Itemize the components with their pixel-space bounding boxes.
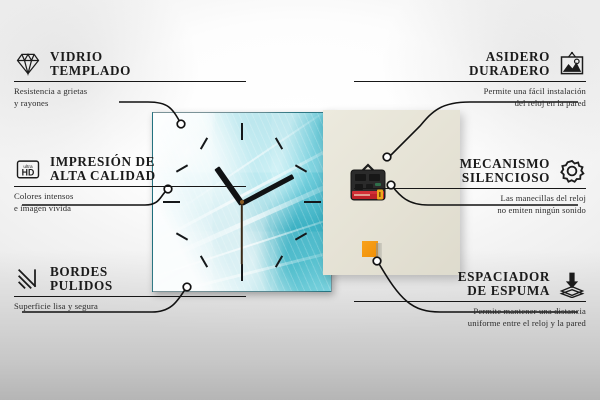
foam-spacer-icon: [558, 270, 586, 298]
feature-title-line1: MECANISMO: [460, 157, 550, 171]
feature-title-line1: VIDRIO: [50, 50, 131, 64]
gear-icon: [558, 157, 586, 185]
feature-divider: [14, 296, 246, 297]
feature-description: Resistencia a grietas y rayones: [14, 86, 246, 110]
feature-asidero-duradero: ASIDERO DURADERO Permite una fácil insta…: [354, 50, 586, 110]
feature-header: ultra HD IMPRESIÓN DE ALTA CALIDAD: [14, 155, 246, 183]
feature-divider: [354, 188, 586, 189]
feature-mecanismo-silencioso: MECANISMO SILENCIOSO Las manecillas del …: [354, 157, 586, 217]
feature-header: ASIDERO DURADERO: [354, 50, 586, 78]
feature-description: Colores intensos e imagen vívida: [14, 191, 246, 215]
feature-title-line2: ALTA CALIDAD: [50, 169, 156, 183]
feature-title-line1: BORDES: [50, 265, 113, 279]
feature-divider: [354, 81, 586, 82]
feature-divider: [14, 81, 246, 82]
feature-titles: ASIDERO DURADERO: [469, 50, 550, 78]
polished-edges-icon: [14, 265, 42, 293]
feature-titles: ESPACIADOR DE ESPUMA: [458, 270, 550, 298]
picture-hanger-icon: [558, 50, 586, 78]
feature-bordes-pulidos: BORDES PULIDOS Superficie lisa y segura: [14, 265, 246, 313]
feature-divider: [354, 301, 586, 302]
feature-header: MECANISMO SILENCIOSO: [354, 157, 586, 185]
infographic-canvas: VIDRIO TEMPLADO Resistencia a grietas y …: [0, 0, 600, 400]
feature-titles: BORDES PULIDOS: [50, 265, 113, 293]
feature-description: Las manecillas del reloj no emiten ningú…: [354, 193, 586, 217]
hour-marker-12: [241, 123, 243, 140]
foam-spacer-shadow: [376, 243, 382, 259]
feature-title-line2: DE ESPUMA: [467, 284, 550, 298]
feature-header: BORDES PULIDOS: [14, 265, 246, 293]
feature-description: Superficie lisa y segura: [14, 301, 246, 313]
feature-title-line1: ESPACIADOR: [458, 270, 550, 284]
feature-titles: VIDRIO TEMPLADO: [50, 50, 131, 78]
feature-titles: IMPRESIÓN DE ALTA CALIDAD: [50, 155, 156, 183]
feature-header: ESPACIADOR DE ESPUMA: [354, 270, 586, 298]
feature-description: Permite mantener una distancia uniforme …: [354, 306, 586, 330]
ultra-hd-large-text: HD: [22, 168, 35, 178]
foam-spacer-pad: [362, 241, 378, 257]
feature-vidrio-templado: VIDRIO TEMPLADO Resistencia a grietas y …: [14, 50, 246, 110]
feature-impresion-alta-calidad: ultra HD IMPRESIÓN DE ALTA CALIDAD Color…: [14, 155, 246, 215]
feature-title-line2: DURADERO: [469, 64, 550, 78]
feature-header: VIDRIO TEMPLADO: [14, 50, 246, 78]
feature-espaciador-de-espuma: ESPACIADOR DE ESPUMA Permite mantener un…: [354, 270, 586, 330]
feature-description: Permite una fácil instalación del reloj …: [354, 86, 586, 110]
feature-title-line2: TEMPLADO: [50, 64, 131, 78]
hour-marker-3: [304, 201, 321, 203]
feature-title-line1: ASIDERO: [469, 50, 550, 64]
feature-title-line2: PULIDOS: [50, 279, 113, 293]
feature-title-line1: IMPRESIÓN DE: [50, 155, 156, 169]
feature-titles: MECANISMO SILENCIOSO: [460, 157, 550, 185]
ultra-hd-icon: ultra HD: [14, 155, 42, 183]
feature-divider: [14, 186, 246, 187]
feature-title-line2: SILENCIOSO: [462, 171, 550, 185]
diamond-icon: [14, 50, 42, 78]
